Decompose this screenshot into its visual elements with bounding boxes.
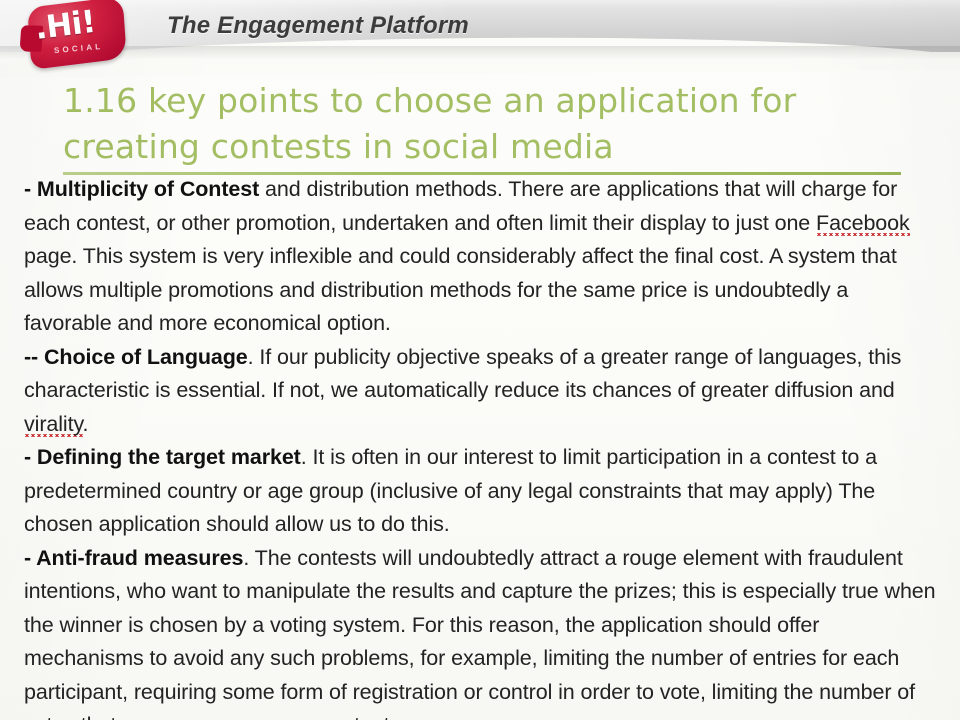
brand-logo: .Hi! SOCIAL <box>29 2 125 64</box>
paragraph-text: . The contests will undoubtedly attract … <box>24 546 936 720</box>
page-title: 1.16 key points to choose an application… <box>63 78 918 170</box>
brand-tagline: The Engagement Platform <box>167 12 469 40</box>
paragraph-lead: - Multiplicity of Contest <box>24 177 259 201</box>
paragraph-lead: - Anti-fraud measures <box>24 546 243 570</box>
paragraph-lead: -- Choice of Language <box>24 345 248 369</box>
presentation-slide: .Hi! SOCIAL The Engagement Platform 1.16… <box>0 0 960 720</box>
body-paragraph: - Defining the target market. It is ofte… <box>24 441 936 542</box>
logo-main-text: .Hi! <box>33 7 97 45</box>
spellcheck-underlined-word: Facebook <box>816 211 910 236</box>
body-paragraph: - Multiplicity of Contest and distributi… <box>24 173 936 341</box>
spellcheck-underlined-word: virality <box>24 412 83 437</box>
logo-text: .Hi! SOCIAL <box>26 0 129 70</box>
body-paragraph: - Anti-fraud measures. The contests will… <box>24 542 936 720</box>
slide-body-text: - Multiplicity of Contest and distributi… <box>24 173 936 720</box>
slide-title-block: 1.16 key points to choose an application… <box>63 78 918 175</box>
paragraph-lead: - Defining the target market <box>24 445 301 469</box>
header-band <box>0 0 960 52</box>
body-paragraph: -- Choice of Language. If our publicity … <box>24 341 936 442</box>
